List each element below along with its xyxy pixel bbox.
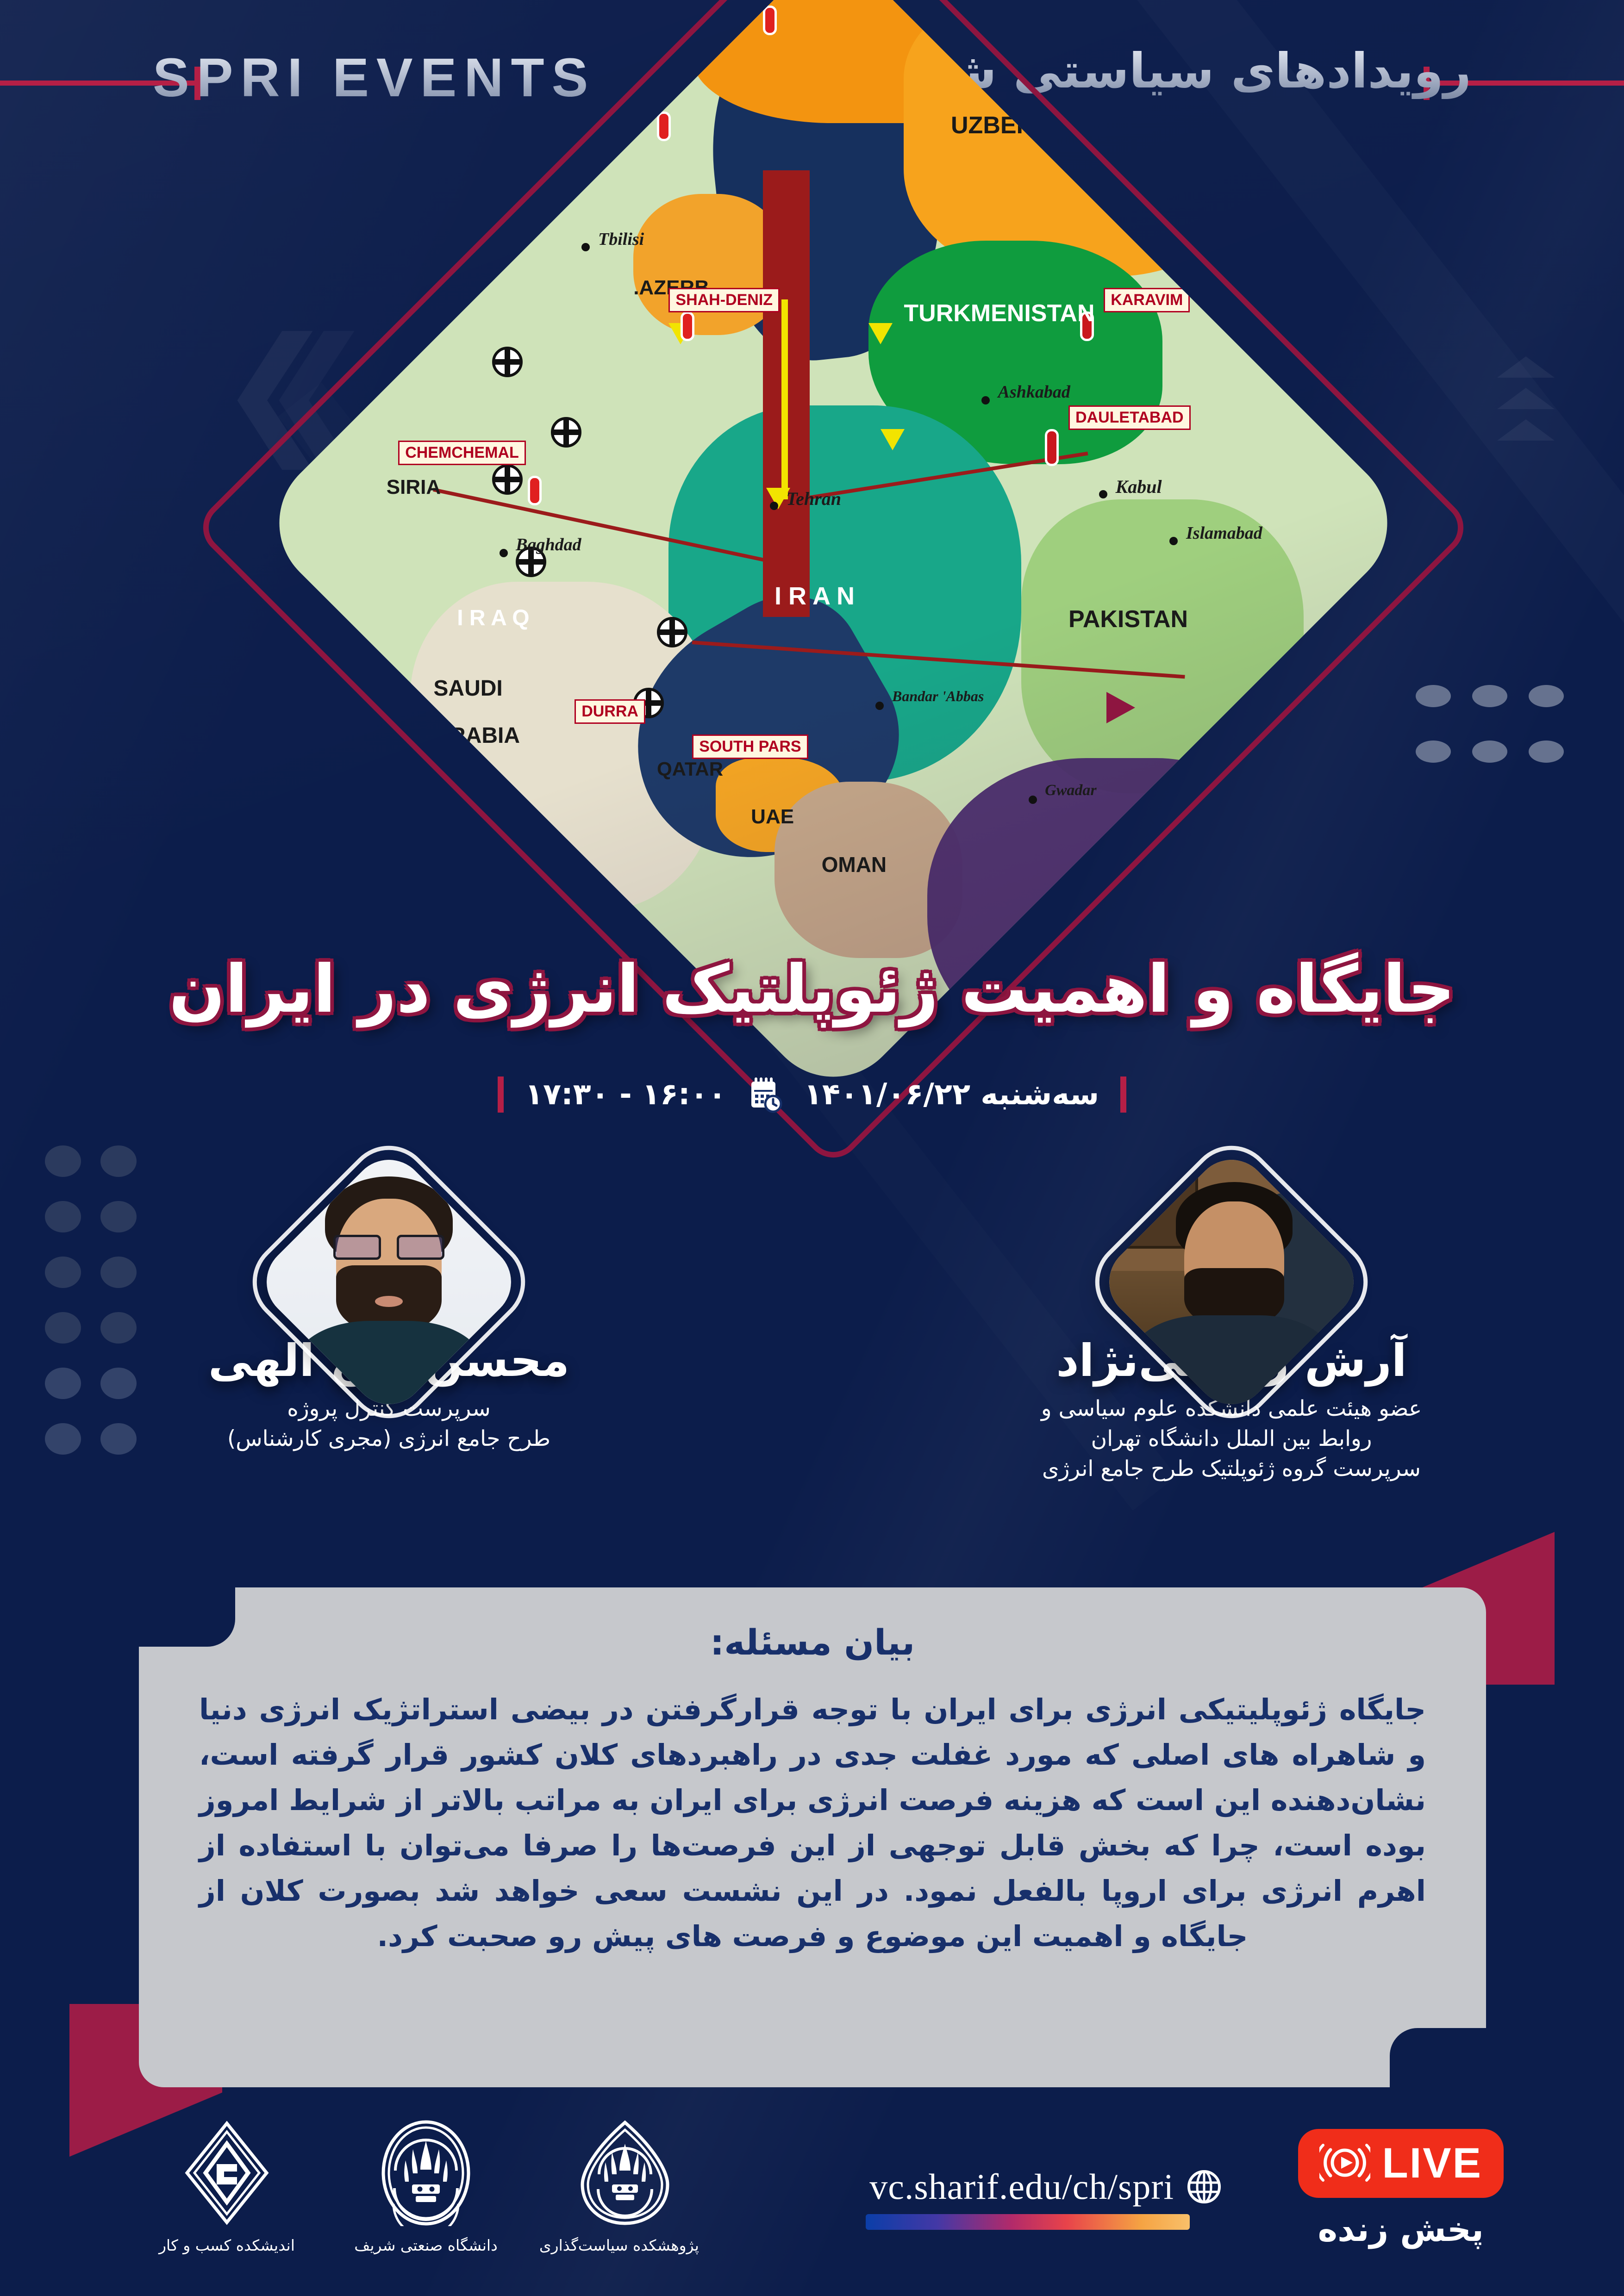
logo-item-0: پژوهشکده سیاست‌گذاری: [551, 2120, 699, 2254]
hero-section: UZBEKISTANTURKMENISTANAZERB.SIRIAI R A Q…: [0, 83, 1624, 963]
logo-item-1: دانشگاه صنعتی شریف: [352, 2120, 500, 2254]
map-city-dot: [981, 396, 990, 404]
title-block: جایگاه و اهمیت ژئوپلتیک انرژی در ایران: [0, 951, 1624, 1027]
calendar-clock-icon: [748, 1076, 783, 1113]
statement-heading: بیان مسئله:: [139, 1587, 1486, 1663]
map-gasfield-tag: SOUTH PARS: [692, 734, 808, 759]
speaker-role-line-2: روابط بین الملل دانشگاه تهران: [991, 1424, 1472, 1454]
speakers-section: آرش رئیسی‌نژاد عضو هیئت علمی دانشکده علو…: [0, 1185, 1624, 1564]
speaker-card-1: آرش رئیسی‌نژاد عضو هیئت علمی دانشکده علو…: [991, 1185, 1472, 1484]
map-country-label: TURKMENISTAN: [904, 299, 1094, 327]
card-notch-bottom-right: [1390, 2028, 1487, 2088]
speaker-role-line-3: سرپرست گروه ژئوپلتیک طرح جامع انرژی: [991, 1454, 1472, 1484]
map-city-label: Ashkabad: [998, 382, 1070, 402]
date-divider-right: [1120, 1076, 1126, 1113]
map-city-dot: [1099, 490, 1107, 498]
map-city-dot: [1029, 796, 1037, 804]
map-country-label: SAUDI: [433, 676, 502, 701]
sharif-policy-research-institute-logo: [579, 2120, 671, 2226]
event-date: سه‌شنبه ۱۴۰۱/۰۶/۲۲: [804, 1077, 1099, 1112]
event-time: ۱۶:۰۰ - ۱۷:۳۰: [525, 1077, 726, 1112]
logo-caption: دانشگاه صنعتی شریف: [352, 2236, 500, 2254]
map-country-label: PAKISTAN: [1068, 605, 1188, 633]
sharif-university-of-technology-logo: [380, 2120, 472, 2226]
broadcast-icon: [1319, 2141, 1370, 2186]
map-outline-arrow-icon: [1106, 692, 1135, 723]
map-country-label: UZBEKISTAN: [951, 112, 1104, 139]
map-city-dot: [500, 549, 508, 557]
map-city-label: Islamabad: [1186, 523, 1262, 543]
logo-caption: پژوهشکده سیاست‌گذاری: [551, 2236, 699, 2254]
event-datetime-row: سه‌شنبه ۱۴۰۱/۰۶/۲۲ ۱۶:۰۰ - ۱۷:۳۰: [0, 1076, 1624, 1113]
map-country-label: I R A N: [775, 582, 855, 610]
map-country-label: UAE: [751, 805, 794, 828]
map-city-dot: [770, 502, 778, 510]
map-gasfield-tag: DAULETABAD: [1068, 405, 1191, 430]
map-city-dot: [1075, 866, 1084, 875]
map-gasfield-tag: CHEMCHEMAL: [398, 441, 526, 465]
logo-item-2: اندیشکده کسب و کار: [153, 2120, 301, 2254]
business-think-tank-logo: [181, 2120, 273, 2226]
broadcast-url-block[interactable]: vc.sharif.edu/ch/spri: [866, 2166, 1222, 2230]
date-divider-left: [498, 1076, 504, 1113]
map-city-label: Bandar 'Abbas: [892, 688, 984, 705]
broadcast-url[interactable]: vc.sharif.edu/ch/spri: [869, 2166, 1174, 2208]
speaker-role-line-2: طرح جامع انرژی (مجری کارشناس): [148, 1424, 630, 1454]
map-city-label: Baghdad: [516, 535, 581, 555]
energy-map-image: UZBEKISTANTURKMENISTANAZERB.SIRIAI R A Q…: [250, 0, 1416, 1106]
speaker-card-0: محسن فتح الهی سرپرست کنترل پروژه طرح جام…: [148, 1185, 630, 1454]
logo-row: پژوهشکده سیاست‌گذاری: [153, 2120, 699, 2254]
live-badge: LIVE: [1298, 2129, 1504, 2198]
page-title: جایگاه و اهمیت ژئوپلتیک انرژی در ایران: [0, 951, 1624, 1027]
globe-icon: [1186, 2169, 1222, 2205]
map-country-label: I R A Q: [457, 605, 529, 631]
live-block: LIVE پخش زنده: [1298, 2129, 1504, 2249]
statement-body: جایگاه ژئوپلیتیکی انرژی برای ایران با تو…: [139, 1663, 1486, 1959]
map-city-label: Tbilisi: [598, 229, 644, 249]
map-city-label: Gwadar: [1045, 782, 1096, 799]
map-country-label: ARABIA: [433, 723, 520, 748]
poster-footer: پژوهشکده سیاست‌گذاری: [0, 2110, 1624, 2296]
live-label-fa: پخش زنده: [1298, 2210, 1504, 2249]
url-gradient-underline: [866, 2214, 1190, 2230]
card-notch-top-left: [138, 1587, 235, 1647]
map-gasfield-tag: DURRA: [575, 699, 645, 724]
map-city-label: Kabul: [1116, 476, 1162, 498]
map-city-label: Tehran: [786, 488, 841, 510]
logo-caption: اندیشکده کسب و کار: [153, 2236, 301, 2254]
statement-card: بیان مسئله: جایگاه ژئوپلیتیکی انرژی برای…: [139, 1587, 1486, 2087]
live-label: LIVE: [1382, 2139, 1482, 2188]
map-country-label: SIRIA: [387, 476, 441, 499]
map-gasfield-tag: KARAVIM: [1104, 288, 1190, 312]
map-gasfield-tag: SHAH-DENIZ: [668, 288, 780, 312]
map-country-label: QATAR: [657, 758, 723, 780]
map-country-label: OMAN: [822, 852, 887, 877]
map-city-label: Chiral: [1092, 852, 1137, 871]
